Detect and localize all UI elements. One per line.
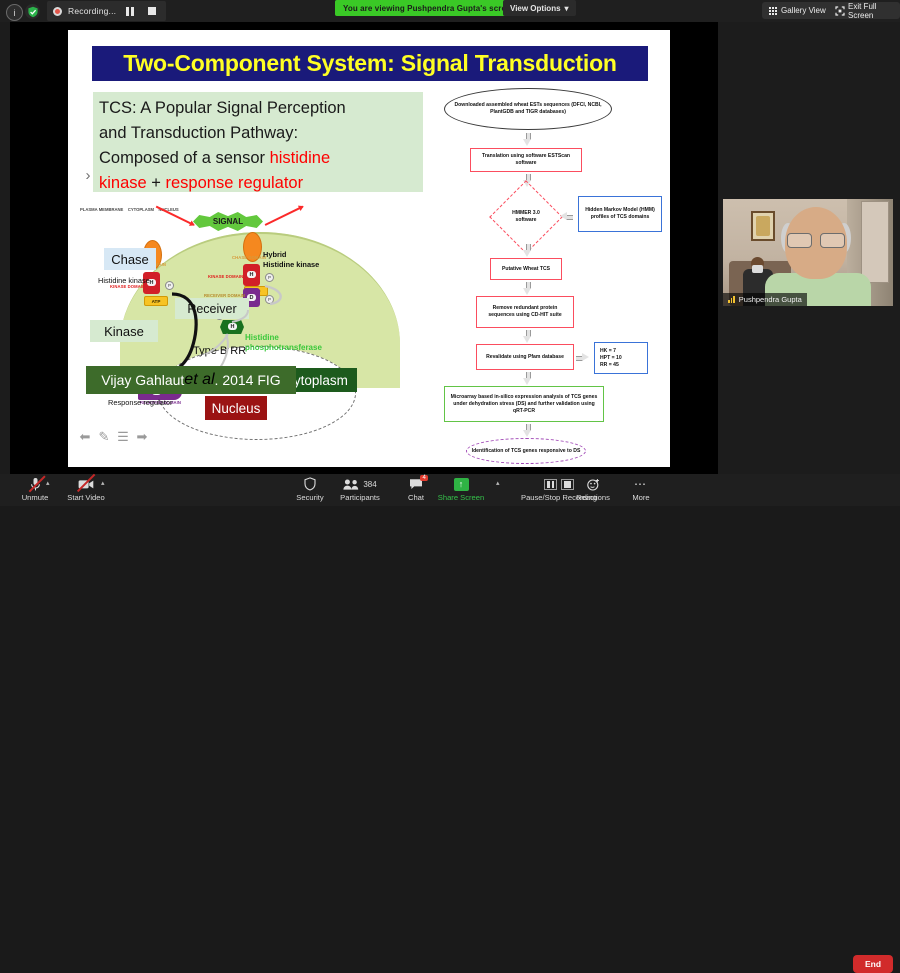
flow-arrow-3 [523,244,532,257]
end-label: End [865,959,881,969]
security-label: Security [296,493,323,502]
diagram-connector-arrows [80,198,420,460]
flow-node-2: Translation using software ESTScan softw… [470,148,582,172]
viewing-screen-banner: You are viewing Pushpendra Gupta's scree… [335,0,524,16]
view-options-label: View Options [510,4,561,13]
participant-name-badge: Pushpendra Gupta [723,293,807,306]
flow-arrow-1 [523,133,532,146]
flow-arrow-4 [523,282,532,295]
citation-author: Vijay Gahlaut [101,372,184,388]
signal-transduction-diagram: SIGNAL CHASE DOMAIN KINASE DOMAIN H P AT… [80,198,420,460]
start-video-button[interactable]: Start Video [53,477,119,502]
recording-label: Recording... [68,6,116,16]
top-bar: i Recording... You are viewing Pushpendr… [0,0,900,22]
share-screen-label: Share Screen [438,493,484,502]
citation-rest: . 2014 FIG [215,372,281,388]
video-second-person-mask [752,265,763,273]
unmute-label: Unmute [22,493,49,502]
signal-bars-icon [728,296,735,303]
video-wall-picture [751,211,775,241]
more-label: More [632,493,649,502]
citation-etal: et al [184,371,214,389]
shield-icon [304,477,316,491]
participants-label: Participants [340,493,380,502]
flow-node-3: HMMER 3.0 software [489,180,563,254]
flow-node-4: Hidden Markov Model (HMM) profiles of TC… [578,196,662,232]
list-icon[interactable]: ☰ [116,430,130,444]
rr-count: RR = 45 [600,362,619,369]
participant-name-label: Pushpendra Gupta [739,295,802,304]
viewing-screen-label: You are viewing Pushpendra Gupta's scree… [343,4,516,13]
flow-node-9: Microarray based in-silico expression an… [444,386,604,422]
slide-title-text: Two-Component System: Signal Transductio… [123,50,617,77]
chevron-right-icon[interactable]: › [80,162,96,188]
hk-count: HK = 7 [600,348,616,355]
hpt-count: HPT = 10 [600,355,622,362]
share-screen-button[interactable]: ↑ Share Screen [428,477,494,502]
citation-banner: Vijay Gahlaut et al. 2014 FIG [86,366,296,394]
zoom-meeting-window: i Recording... You are viewing Pushpendr… [0,0,900,506]
shared-screen-area: › Two-Component System: Signal Transduct… [10,22,718,474]
arrow-right-icon[interactable]: ➡ [135,430,149,444]
gallery-view-button[interactable]: Gallery View [762,2,833,19]
video-door [861,201,889,283]
video-speaker-glasses [787,233,845,246]
meeting-toolbar: Unmute ▴ Start Video ▴ Security 384 Part… [0,474,900,506]
tcs-line-1: TCS: A Popular Signal Perception [99,96,417,121]
tcs-line-4: kinase + response regulator [99,171,417,196]
exit-full-screen-label: Exit Full Screen [848,2,893,20]
recording-indicator: Recording... [47,1,166,21]
participants-count: 384 [363,480,376,489]
ellipsis-icon: ⋯ [634,477,648,491]
end-meeting-button[interactable]: End [853,955,893,973]
grid-icon [769,7,777,15]
flow-arrow-counts [576,353,589,362]
video-options-chevron-icon[interactable]: ▴ [101,479,105,487]
share-screen-icon: ↑ [454,477,469,491]
view-options-button[interactable]: View Options ▾ [503,0,576,16]
more-button[interactable]: ⋯ More [608,477,674,502]
flow-node-8: HK = 7 HPT = 10 RR = 45 [594,342,648,374]
flow-node-7: Revalidate using Pfam database [476,344,574,370]
flow-arrow-5 [523,330,532,343]
flow-arrow-7 [523,424,532,437]
audio-options-chevron-icon[interactable]: ▴ [46,479,50,487]
participant-video-thumbnail[interactable]: Pushpendra Gupta [723,199,893,306]
info-icon[interactable]: i [6,4,23,21]
flow-node-10: Identification of TCS genes responsive t… [466,438,586,464]
start-video-label: Start Video [67,493,104,502]
presentation-slide: Two-Component System: Signal Transductio… [68,30,670,467]
workflow-flowchart: Downloaded assembled wheat ESTs sequence… [424,88,664,460]
chevron-down-icon: ▾ [565,4,569,13]
chat-label: Chat [408,493,424,502]
reactions-label: Reactions [576,493,610,502]
flow-node-5: Putative Wheat TCS [490,258,562,280]
video-muted-icon [78,477,94,491]
record-dot-icon [53,7,62,16]
page-title: Two-Component System: Signal Transductio… [92,46,648,81]
exit-fullscreen-icon [835,6,844,15]
tcs-line-2: and Transduction Pathway: [99,121,417,146]
pencil-icon[interactable]: ✎ [97,430,111,444]
reactions-icon [587,477,600,491]
pause-icon[interactable] [122,4,138,18]
stop-icon[interactable] [144,4,160,18]
gallery-view-label: Gallery View [781,6,826,15]
tcs-line-3: Composed of a sensor histidine [99,146,417,171]
slide-navigation: ⬅ ✎ ☰ ➡ [78,430,149,444]
shield-icon[interactable] [25,4,40,19]
flow-arrow-hmm [560,212,573,221]
people-icon: 384 [343,477,376,491]
tcs-description-box: TCS: A Popular Signal Perception and Tra… [93,92,423,192]
arrow-left-icon[interactable]: ⬅ [78,430,92,444]
flow-node-6: Remove redundant protein sequences using… [476,296,574,328]
flow-node-1: Downloaded assembled wheat ESTs sequence… [444,88,612,130]
exit-full-screen-button[interactable]: Exit Full Screen [828,2,900,19]
microphone-muted-icon [30,477,41,491]
flow-arrow-6 [523,372,532,385]
